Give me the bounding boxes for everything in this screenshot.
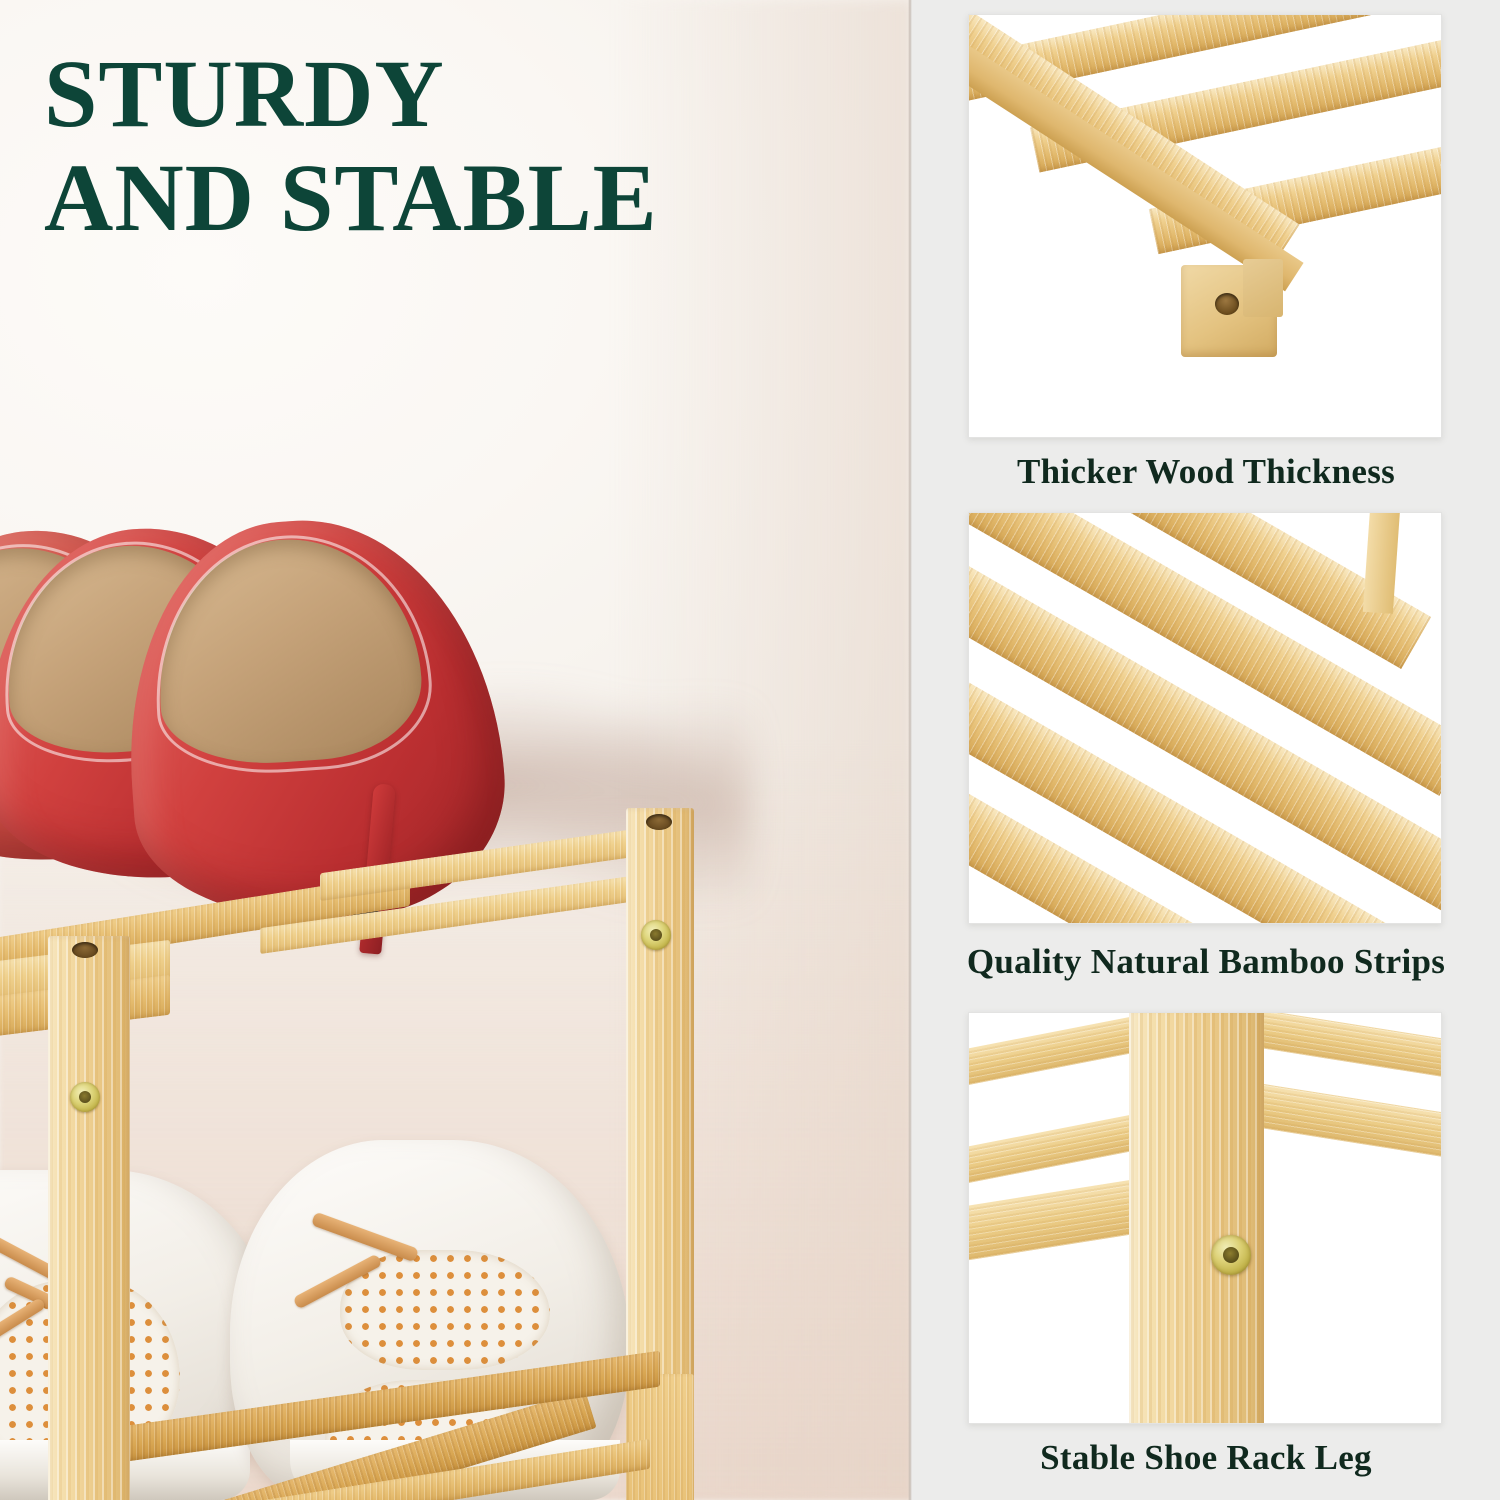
- feature-panel-quality-natural-bamboo-strips: [968, 512, 1442, 924]
- rack-screw-front-left: [70, 1082, 100, 1112]
- feature-panel-column: Thicker Wood Thickness Quality Natural B…: [912, 0, 1500, 1500]
- hero-photo: STURDY AND STABLE: [0, 0, 912, 1500]
- screw-hole-icon: [1215, 293, 1239, 315]
- feature-caption-2: Quality Natural Bamboo Strips: [940, 942, 1472, 982]
- headline-line-2: AND STABLE: [44, 146, 874, 250]
- feature-panel-stable-shoe-rack-leg: [968, 1012, 1442, 1424]
- feature-caption-3: Stable Shoe Rack Leg: [940, 1438, 1472, 1478]
- rack-leg-right: [626, 808, 694, 1378]
- bamboo-leg: [1129, 1012, 1264, 1424]
- feature-panel-thicker-wood-thickness: [968, 14, 1442, 438]
- bamboo-end-block-notch: [1243, 259, 1283, 317]
- rack-leg-front-left: [48, 936, 130, 1500]
- bamboo-shoe-rack: [0, 790, 790, 1500]
- bamboo-rail-left-top: [968, 1014, 1151, 1088]
- headline-line-1: STURDY: [44, 40, 445, 147]
- feature-caption-1: Thicker Wood Thickness: [940, 452, 1472, 492]
- bamboo-rail-right-top: [1257, 1012, 1442, 1082]
- bamboo-rail-left-mid: [968, 1112, 1151, 1186]
- rack-leg-right-lower: [626, 1374, 694, 1500]
- rack-leg-right-hole: [646, 814, 672, 830]
- page-title: STURDY AND STABLE: [44, 42, 874, 249]
- rack-screw-head: [1223, 1247, 1239, 1263]
- bamboo-rail-right-mid: [1255, 1084, 1442, 1163]
- rack-leg-front-left-hole: [72, 942, 98, 958]
- product-feature-image: STURDY AND STABLE: [0, 0, 1500, 1500]
- rack-screw-right-upper: [641, 920, 671, 950]
